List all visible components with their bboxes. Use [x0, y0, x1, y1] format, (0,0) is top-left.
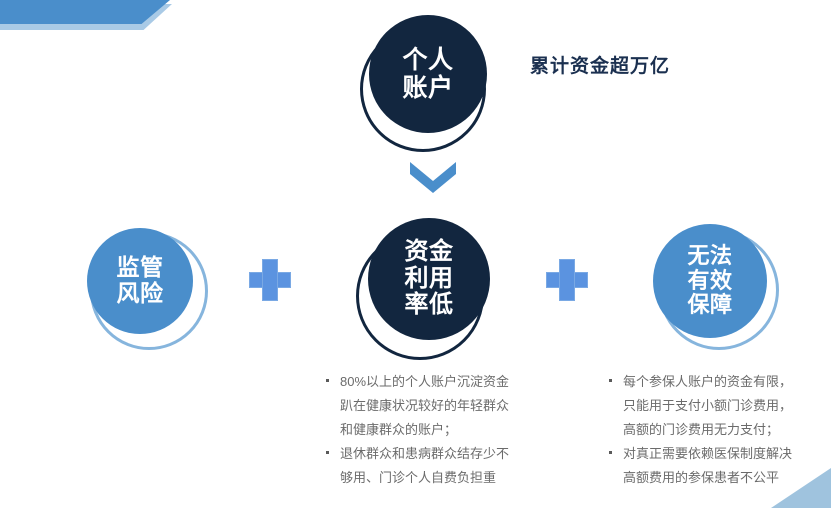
bullet-list-no-guarantee: 每个参保人账户的资金有限， 只能用于支付小额门诊费用， 高额的门诊费用无力支付；… — [609, 370, 824, 490]
node-personal-account[interactable]: 个人 账户 — [352, 10, 502, 152]
bullet-marker-icon — [609, 442, 623, 454]
bullet-marker-icon — [609, 370, 623, 382]
node-no-guarantee-label: 无法 有效 保障 — [687, 244, 732, 318]
list-item-text: 对真正需要依赖医保制度解决 高额费用的参保患者不公平 — [623, 442, 824, 490]
node-regulatory-risk-label: 监管 风险 — [117, 255, 164, 307]
list-item: 退休群众和患病群众结存少不 够用、门诊个人自费负担重 — [326, 442, 541, 490]
chevron-down-icon — [410, 162, 456, 193]
bullet-list-fund-utilization: 80%以上的个人账户沉淀资金 趴在健康状况较好的年轻群众 和健康群众的账户； 退… — [326, 370, 541, 490]
page-title: 累计资金超万亿 — [530, 51, 670, 78]
node-fund-utilization-label: 资金 利用 率低 — [405, 239, 454, 320]
list-item: 每个参保人账户的资金有限， 只能用于支付小额门诊费用， 高额的门诊费用无力支付； — [609, 370, 824, 442]
node-fund-utilization-disc: 资金 利用 率低 — [368, 218, 490, 340]
list-item-text: 80%以上的个人账户沉淀资金 趴在健康状况较好的年轻群众 和健康群众的账户； — [340, 370, 541, 442]
node-fund-utilization[interactable]: 资金 利用 率低 — [352, 212, 504, 364]
list-item-text: 每个参保人账户的资金有限， 只能用于支付小额门诊费用， 高额的门诊费用无力支付； — [623, 370, 824, 442]
node-no-guarantee-disc: 无法 有效 保障 — [653, 224, 767, 338]
node-no-guarantee[interactable]: 无法 有效 保障 — [645, 214, 785, 360]
plus-bar-vertical — [559, 259, 575, 301]
list-item-text: 退休群众和患病群众结存少不 够用、门诊个人自费负担重 — [340, 442, 541, 490]
bullet-marker-icon — [326, 442, 340, 454]
node-regulatory-risk[interactable]: 监管 风险 — [78, 216, 212, 352]
node-personal-account-label: 个人 账户 — [402, 46, 453, 102]
plus-icon-left — [249, 259, 291, 301]
slide-canvas: 累计资金超万亿 个人 账户 监管 风险 资金 利用 率低 — [0, 0, 831, 508]
plus-icon-right — [546, 259, 588, 301]
banner-accent-shape — [0, 0, 170, 24]
list-item: 对真正需要依赖医保制度解决 高额费用的参保患者不公平 — [609, 442, 824, 490]
node-regulatory-risk-disc: 监管 风险 — [87, 228, 193, 334]
node-personal-account-disc: 个人 账户 — [369, 15, 487, 133]
list-item: 80%以上的个人账户沉淀资金 趴在健康状况较好的年轻群众 和健康群众的账户； — [326, 370, 541, 442]
bullet-marker-icon — [326, 370, 340, 382]
plus-bar-vertical — [262, 259, 278, 301]
